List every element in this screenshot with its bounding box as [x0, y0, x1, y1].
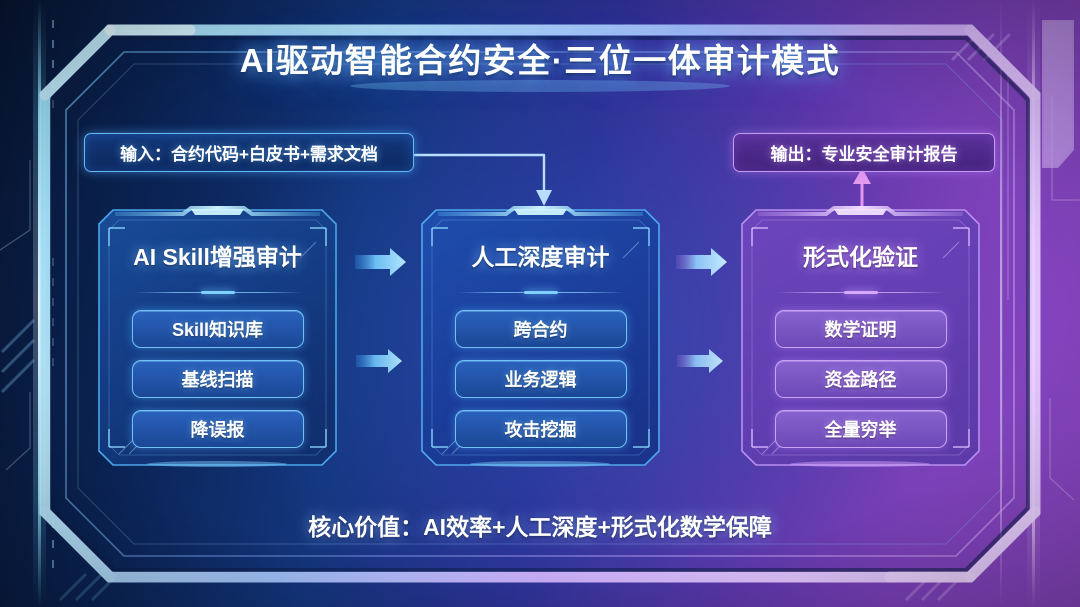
slide-background: AI驱动智能合约安全·三位一体审计模式 输入：合约代码+白皮书+需求文档 输出：…: [0, 0, 1080, 607]
core-value-footer: 核心价值：AI效率+人工深度+形式化数学保障: [0, 508, 1080, 542]
card-title: 形式化验证: [803, 238, 918, 272]
pill-item[interactable]: Skill知识库: [132, 310, 304, 348]
pill-item[interactable]: 降误报: [132, 410, 304, 448]
input-label-text: 输入：合约代码+白皮书+需求文档: [120, 140, 378, 165]
card-title: AI Skill增强审计: [133, 238, 302, 272]
output-label-text: 输出：专业安全审计报告: [771, 140, 958, 165]
card-ai-skill-audit[interactable]: AI Skill增强审计 Skill知识库 基线扫描 降误报: [95, 206, 340, 469]
card-divider: [134, 291, 302, 294]
pill-item[interactable]: 跨合约: [455, 310, 627, 348]
pill-item[interactable]: 全量穷举: [775, 410, 947, 448]
card-manual-deep-audit[interactable]: 人工深度审计 跨合约 业务逻辑 攻击挖掘: [418, 206, 663, 469]
card-formal-verification[interactable]: 形式化验证 数学证明 资金路径 全量穷举: [738, 206, 983, 469]
output-label-box: 输出：专业安全审计报告: [733, 133, 995, 172]
card-title: 人工深度审计: [472, 238, 610, 272]
pill-item[interactable]: 数学证明: [775, 310, 947, 348]
pill-item[interactable]: 攻击挖掘: [455, 410, 627, 448]
card-pill-list: 跨合约 业务逻辑 攻击挖掘: [455, 310, 627, 448]
pill-item[interactable]: 基线扫描: [132, 360, 304, 398]
card-pill-list: Skill知识库 基线扫描 降误报: [132, 310, 304, 448]
pill-item[interactable]: 资金路径: [775, 360, 947, 398]
card-pill-list: 数学证明 资金路径 全量穷举: [775, 310, 947, 448]
card-divider: [777, 291, 945, 294]
page-title: AI驱动智能合约安全·三位一体审计模式: [0, 34, 1080, 82]
pill-item[interactable]: 业务逻辑: [455, 360, 627, 398]
input-label-box: 输入：合约代码+白皮书+需求文档: [84, 133, 414, 172]
card-divider: [457, 291, 625, 294]
